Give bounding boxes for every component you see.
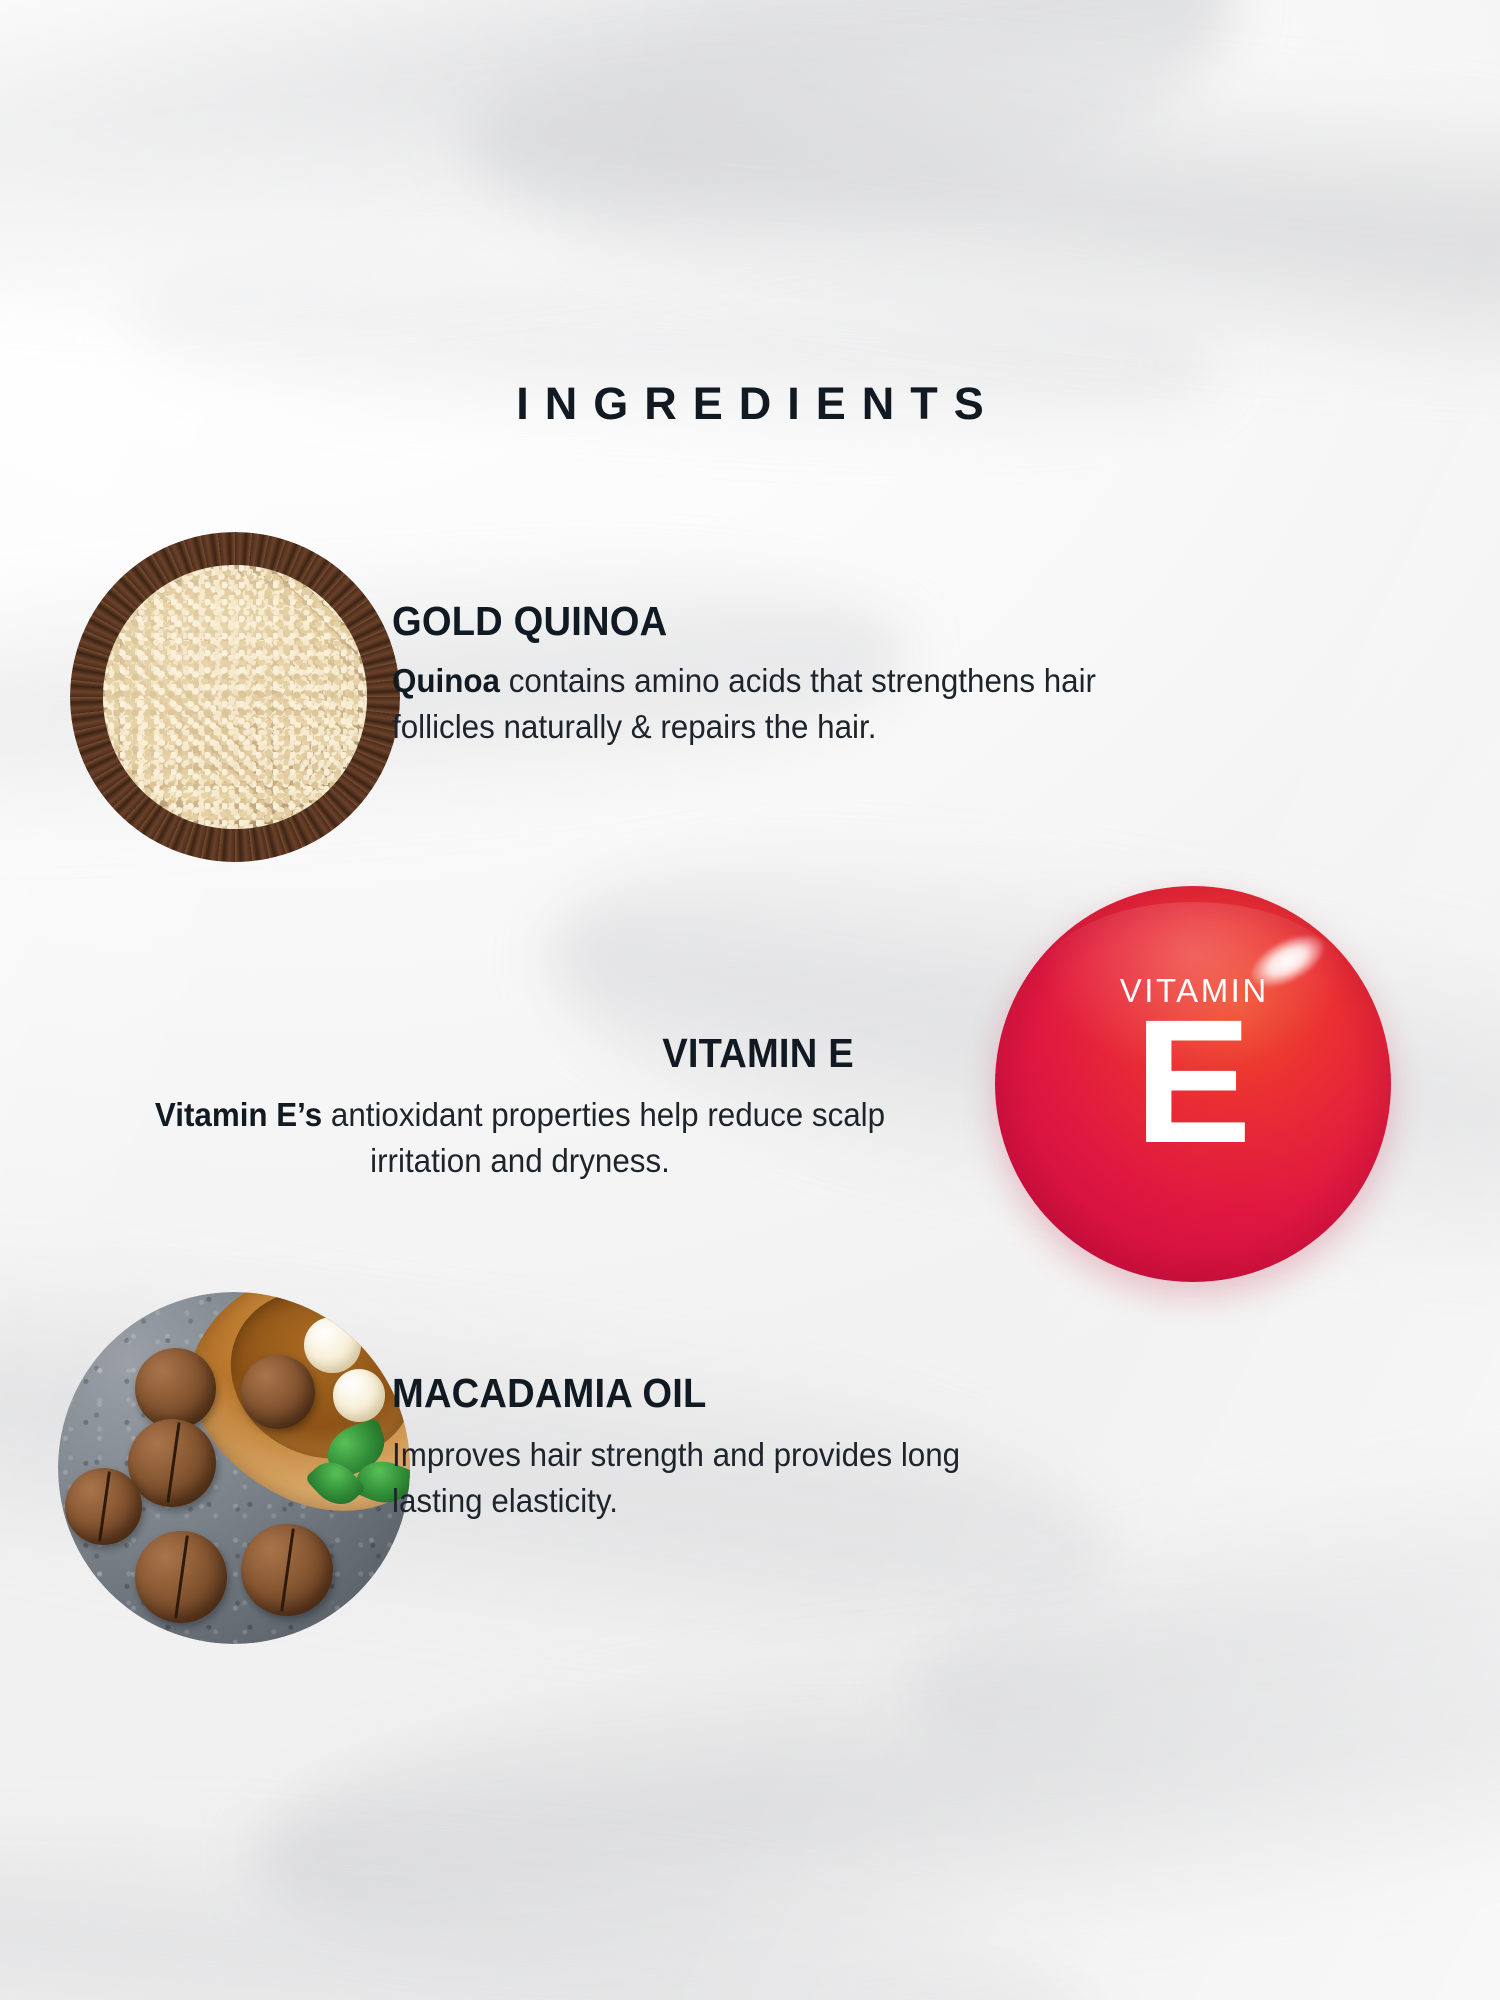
ingredients-infographic: INGREDIENTS GOLD QUINOA Quinoa contains … bbox=[0, 0, 1500, 2000]
macadamia-nut bbox=[241, 1524, 333, 1616]
ingredient-heading-macadamia-oil: MACADAMIA OIL bbox=[392, 1370, 706, 1417]
macadamia-kernel bbox=[304, 1317, 360, 1373]
ingredient-body-bold-gold-quinoa: Quinoa bbox=[392, 662, 500, 699]
sphere-vitamin-letter: E bbox=[1134, 994, 1251, 1170]
page-title: INGREDIENTS bbox=[0, 378, 1500, 430]
sphere-label-group: VITAMIN E bbox=[995, 886, 1391, 1282]
quinoa-grains bbox=[103, 565, 367, 829]
ingredient-body-rest-macadamia-oil: Improves hair strength and provides long… bbox=[392, 1436, 960, 1519]
macadamia-nut bbox=[128, 1419, 216, 1507]
ingredient-body-rest-vitamin-e: antioxidant properties help reduce scalp… bbox=[322, 1096, 885, 1179]
ingredient-body-gold-quinoa: Quinoa contains amino acids that strengt… bbox=[392, 658, 1114, 750]
ingredient-body-vitamin-e: Vitamin E’s antioxidant properties help … bbox=[112, 1092, 929, 1184]
ingredient-body-macadamia-oil: Improves hair strength and provides long… bbox=[392, 1432, 1057, 1524]
macadamia-nut bbox=[241, 1355, 315, 1429]
ingredient-heading-vitamin-e: VITAMIN E bbox=[662, 1030, 854, 1077]
quinoa-bowl-image bbox=[70, 532, 400, 862]
ingredient-heading-gold-quinoa: GOLD QUINOA bbox=[392, 598, 667, 645]
macadamia-nuts-image bbox=[58, 1292, 410, 1644]
macadamia-nut bbox=[135, 1531, 227, 1623]
vitamin-e-sphere-image: VITAMIN E bbox=[995, 886, 1391, 1282]
ingredient-body-bold-vitamin-e: Vitamin E’s bbox=[155, 1096, 322, 1133]
bowl-interior bbox=[103, 565, 367, 829]
macadamia-kernel bbox=[333, 1369, 386, 1422]
